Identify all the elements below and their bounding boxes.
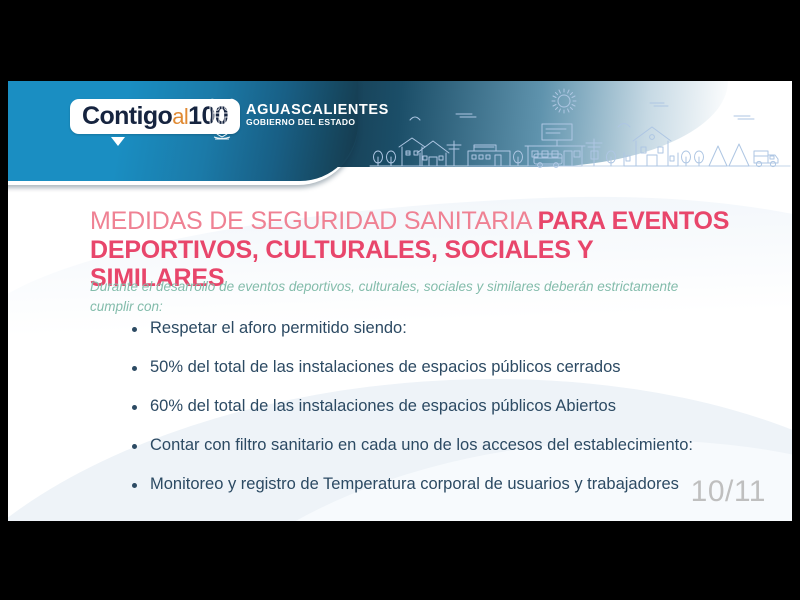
list-item: Respetar el aforo permitido siendo:	[130, 319, 770, 338]
tree-icon-a	[374, 151, 383, 166]
sun-icon	[552, 89, 576, 113]
city-skyline-illustration	[368, 83, 792, 175]
building-shop-2	[525, 124, 585, 166]
speech-bubble-tail-icon	[111, 137, 125, 146]
cloud-icon-2	[650, 103, 668, 106]
list-item: 60% del total de las instalaciones de es…	[130, 397, 770, 416]
title-bold-part: PARA EVENTOS	[538, 207, 730, 235]
logo-text-contigo: Contigo	[82, 102, 172, 130]
measures-bullet-list: Respetar el aforo permitido siendo: 50% …	[130, 319, 770, 514]
tree-icon-d	[607, 151, 616, 166]
cloud-icon-1	[456, 114, 476, 117]
building-church	[624, 127, 678, 166]
presentation-slide: Contigoal100	[8, 81, 792, 521]
list-item: Contar con filtro sanitario en cada uno …	[130, 436, 770, 455]
state-name-label: AGUASCALIENTES	[246, 103, 389, 118]
building-house-2	[417, 141, 449, 166]
tree-icon-b	[387, 151, 396, 166]
bird-icon-2	[618, 124, 630, 128]
state-subtitle-label: GOBIERNO DEL ESTADO	[246, 118, 389, 127]
tree-icon-f	[695, 151, 704, 166]
pine-tree-icon-2	[729, 144, 749, 166]
bus-icon-1	[534, 154, 562, 167]
aguascalientes-coat-of-arms-icon	[204, 93, 240, 141]
state-government-wordmark: AGUASCALIENTES GOBIERNO DEL ESTADO	[246, 103, 389, 127]
title-line-1: MEDIDAS DE SEGURIDAD SANITARIA PARA EVEN…	[90, 207, 730, 235]
slide-subtitle: Durante el desarrollo de eventos deporti…	[90, 277, 710, 316]
utility-pole-2	[586, 139, 602, 166]
tree-icon-e	[682, 151, 691, 166]
list-item: Monitoreo y registro de Temperatura corp…	[130, 475, 770, 494]
title-regular-part: MEDIDAS DE SEGURIDAD SANITARIA	[90, 207, 538, 235]
utility-pole-1	[447, 141, 461, 166]
list-item: 50% del total de las instalaciones de es…	[130, 358, 770, 377]
bird-icon-1	[410, 117, 420, 120]
pine-tree-icon-1	[709, 146, 727, 166]
building-house-1	[399, 138, 425, 166]
page-indicator: 10/11	[691, 475, 766, 509]
video-player-frame: Contigoal100	[0, 0, 800, 600]
logo-text-al: al	[172, 104, 188, 129]
building-shop-1	[468, 145, 510, 166]
tree-icon-c	[514, 151, 523, 166]
truck-icon-1	[754, 151, 778, 167]
cloud-icon-3	[734, 116, 754, 119]
